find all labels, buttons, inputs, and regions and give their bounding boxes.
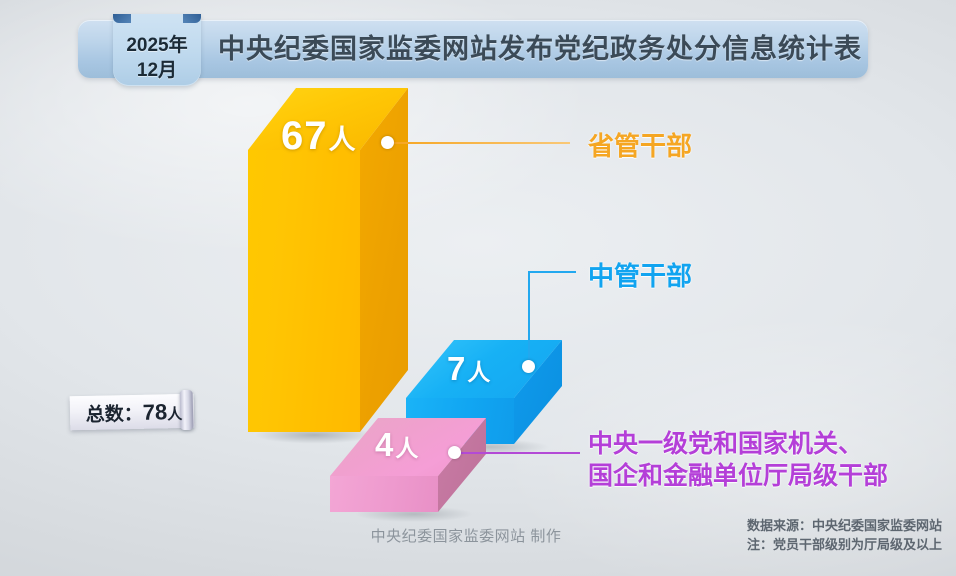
legend-text-line2: 国企和金融单位厅局级干部 bbox=[588, 460, 888, 492]
footnotes: 数据来源：中央纪委国家监委网站 注：党员干部级别为厅局级及以上 bbox=[747, 516, 942, 554]
leader-dot-blue-icon bbox=[522, 360, 535, 373]
leader-line-blue-vertical bbox=[528, 272, 530, 366]
total-unit: 人 bbox=[167, 406, 182, 423]
leader-dot-orange-icon bbox=[381, 136, 394, 149]
legend-text: 中管干部 bbox=[588, 261, 692, 291]
bar-value-central-level-agency: 4人 bbox=[375, 426, 418, 464]
bar-front-face bbox=[330, 476, 438, 512]
bar-value-unit: 人 bbox=[329, 125, 356, 155]
infographic-canvas: 中央纪委国家监委网站发布党纪政务处分信息统计表 2025年 12月 67人 7人 bbox=[0, 0, 956, 576]
total-count-label: 总数：78人 bbox=[76, 399, 193, 427]
total-value: 78 bbox=[142, 399, 167, 425]
legend-text-line1: 中央一级党和国家机关、 bbox=[588, 430, 863, 458]
data-source-note: 数据来源：中央纪委国家监委网站 bbox=[747, 516, 942, 535]
bar-value-number: 4 bbox=[375, 426, 394, 463]
bar-front-face bbox=[248, 150, 360, 432]
level-note: 注：党员干部级别为厅局级及以上 bbox=[747, 535, 942, 554]
bar-value-unit: 人 bbox=[467, 359, 490, 385]
bar-value-unit: 人 bbox=[395, 435, 418, 461]
bar-value-number: 7 bbox=[447, 350, 466, 387]
bar-value-number: 67 bbox=[281, 114, 328, 158]
legend-label-province-managed: 省管干部 bbox=[588, 126, 692, 163]
leader-line-blue-horizontal bbox=[528, 271, 576, 273]
credit-line: 中央纪委国家监委网站 制作 bbox=[336, 525, 596, 546]
leader-dot-pink-icon bbox=[448, 446, 461, 459]
total-prefix: 总数： bbox=[86, 404, 143, 426]
bar-value-central-managed: 7人 bbox=[447, 350, 490, 388]
legend-label-central-managed: 中管干部 bbox=[588, 256, 692, 293]
leader-line-orange bbox=[394, 142, 570, 144]
bar-value-province-managed: 67人 bbox=[281, 114, 356, 159]
legend-label-central-level-agency: 中央一级党和国家机关、 国企和金融单位厅局级干部 bbox=[588, 428, 888, 492]
leader-line-pink bbox=[461, 452, 580, 454]
